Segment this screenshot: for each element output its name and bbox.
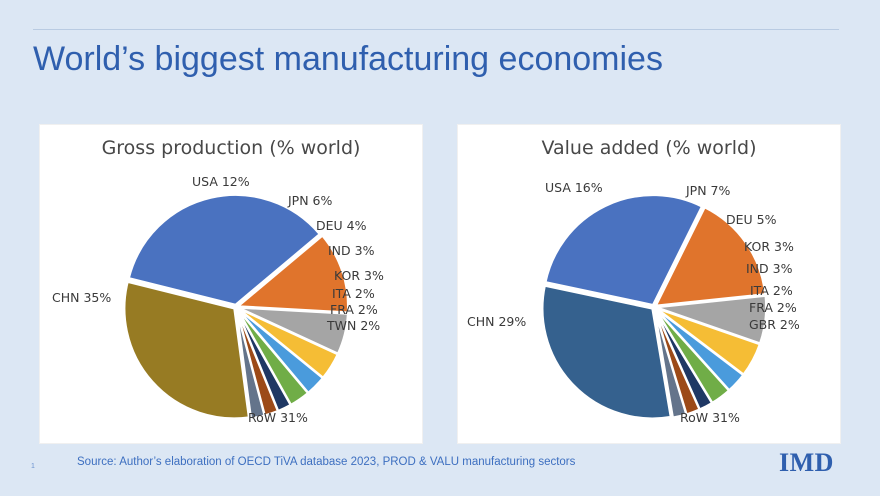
pie-label-jpn: JPN 7% (686, 183, 730, 198)
pie-label-chn: CHN 29% (467, 314, 526, 329)
pie-label-gbr: GBR 2% (749, 317, 800, 332)
pie-label-deu: DEU 5% (726, 212, 776, 227)
slide-canvas: World’s biggest manufacturing economies … (0, 0, 880, 496)
pie-label-ita: ITA 2% (750, 283, 793, 298)
pie-label-twn: TWN 2% (327, 318, 380, 333)
pie-label-usa: USA 12% (192, 174, 250, 189)
source-note: Source: Author’s elaboration of OECD TiV… (77, 456, 575, 468)
title-divider (33, 29, 839, 30)
pie-chart-gross-production: CHN 35%USA 12%JPN 6%DEU 4%IND 3%KOR 3%IT… (40, 125, 422, 443)
pie-label-row: RoW 31% (680, 410, 740, 425)
pie-chart-value-added: CHN 29%USA 16%JPN 7%DEU 5%KOR 3%IND 3%IT… (458, 125, 840, 443)
chart-card-value-added: Value added (% world) CHN 29%USA 16%JPN … (458, 125, 840, 443)
pie-label-jpn: JPN 6% (288, 193, 332, 208)
pie-label-ind: IND 3% (746, 261, 792, 276)
page-number: 1 (31, 463, 35, 470)
pie-label-ind: IND 3% (328, 243, 374, 258)
pie-label-usa: USA 16% (545, 180, 603, 195)
chart-card-gross-production: Gross production (% world) CHN 35%USA 12… (40, 125, 422, 443)
pie-label-ita: ITA 2% (332, 286, 375, 301)
pie-label-kor: KOR 3% (744, 239, 794, 254)
pie-svg-gross-production (40, 125, 422, 443)
pie-label-chn: CHN 35% (52, 290, 111, 305)
page-title: World’s biggest manufacturing economies (33, 40, 833, 79)
imd-logo: IMD (779, 448, 834, 478)
pie-label-fra: FRA 2% (330, 302, 378, 317)
pie-label-deu: DEU 4% (316, 218, 366, 233)
pie-label-fra: FRA 2% (749, 300, 797, 315)
pie-label-row: RoW 31% (248, 410, 308, 425)
pie-label-kor: KOR 3% (334, 268, 384, 283)
